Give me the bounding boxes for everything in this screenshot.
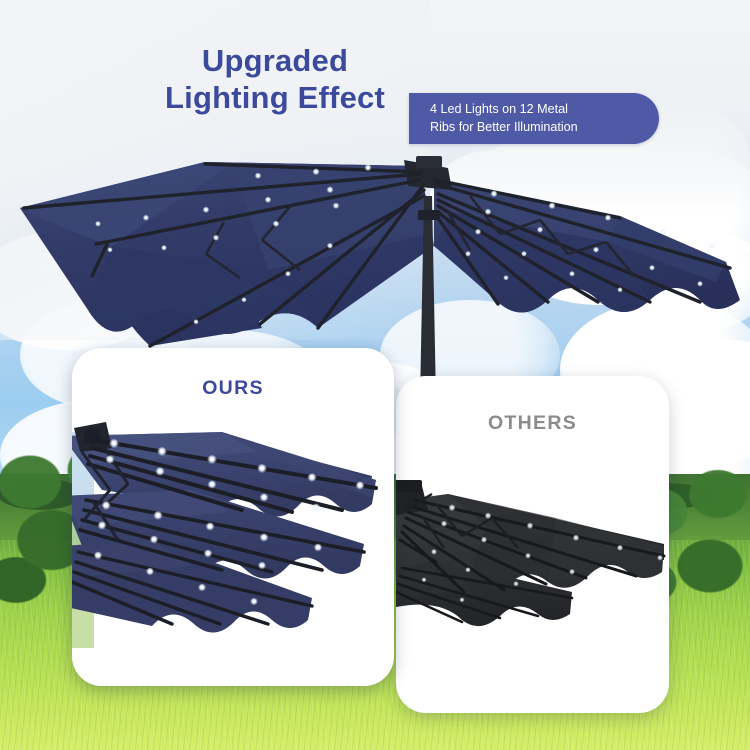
product-banner: Upgraded Lighting Effect 4 Led Lights on… <box>0 0 750 750</box>
headline-line-2: Lighting Effect <box>150 80 400 117</box>
feature-badge: 4 Led Lights on 12 Metal Ribs for Better… <box>409 93 659 144</box>
feature-badge-text: 4 Led Lights on 12 Metal Ribs for Better… <box>409 101 594 136</box>
ours-label: OURS <box>72 377 394 400</box>
headline-line-1: Upgraded <box>150 43 400 80</box>
page-title: Upgraded Lighting Effect <box>150 43 400 116</box>
comparison-card-others: OTHERS <box>396 376 669 713</box>
others-label: OTHERS <box>396 412 669 435</box>
badge-line-2: Ribs for Better Illumination <box>430 119 578 136</box>
badge-line-1: 4 Led Lights on 12 Metal <box>430 101 578 118</box>
comparison-card-ours: OURS <box>72 348 394 686</box>
